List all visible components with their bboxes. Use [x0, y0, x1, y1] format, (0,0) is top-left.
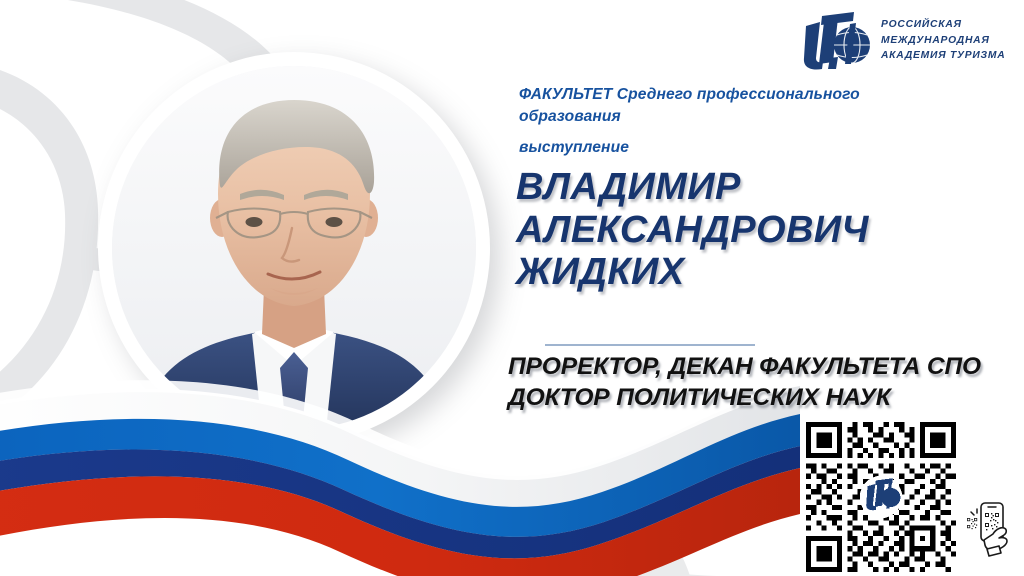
speaker-title-degree: ДОКТОР ПОЛИТИЧЕСКИХ НАУК: [508, 383, 1024, 414]
presentation-slide: РОССИЙСКАЯ МЕЖДУНАРОДНАЯ АКАДЕМИЯ ТУРИЗМ…: [0, 0, 1024, 576]
logo-line-1: РОССИЙСКАЯ: [881, 18, 1005, 33]
speaker-last-name: ЖИДКИХ: [516, 251, 1016, 294]
intro-line-presentation: выступление: [519, 137, 989, 159]
ribbon-band-red: [0, 468, 800, 576]
speaker-name-block: ВЛАДИМИР АЛЕКСАНДРОВИЧ ЖИДКИХ: [516, 166, 1016, 294]
portrait-image: [112, 66, 476, 430]
ribbon-band-navy: [0, 446, 800, 558]
intro-line-faculty-2: образования: [519, 106, 989, 128]
speaker-first-name: ВЛАДИМИР: [516, 166, 1016, 209]
intro-text-block: ФАКУЛЬТЕТ Среднего профессионального обр…: [519, 84, 989, 159]
arc-shape-left-band: [0, 60, 98, 420]
rmat-monogram-globe-icon: [800, 12, 872, 70]
logo-line-2: МЕЖДУНАРОДНАЯ: [881, 34, 1005, 49]
intro-line-faculty-1: ФАКУЛЬТЕТ Среднего профессионального: [519, 84, 989, 106]
rmat-logo: РОССИЙСКАЯ МЕЖДУНАРОДНАЯ АКАДЕМИЯ ТУРИЗМ…: [800, 12, 1005, 70]
speaker-patronymic: АЛЕКСАНДРОВИЧ: [516, 209, 1016, 252]
speaker-title-position: ПРОРЕКТОР, ДЕКАН ФАКУЛЬТЕТА СПО: [508, 352, 1024, 383]
phone-scan-qr-icon: [966, 498, 1014, 564]
qr-code[interactable]: [806, 422, 956, 572]
wave-shape-bottom-right: [490, 494, 690, 576]
title-divider: [545, 344, 755, 346]
rmat-wordmark: РОССИЙСКАЯ МЕЖДУНАРОДНАЯ АКАДЕМИЯ ТУРИЗМ…: [881, 18, 1005, 65]
speaker-portrait: [98, 52, 490, 444]
logo-line-3: АКАДЕМИЯ ТУРИЗМА: [881, 49, 1005, 64]
speaker-title-block: ПРОРЕКТОР, ДЕКАН ФАКУЛЬТЕТА СПО ДОКТОР П…: [508, 352, 1024, 414]
